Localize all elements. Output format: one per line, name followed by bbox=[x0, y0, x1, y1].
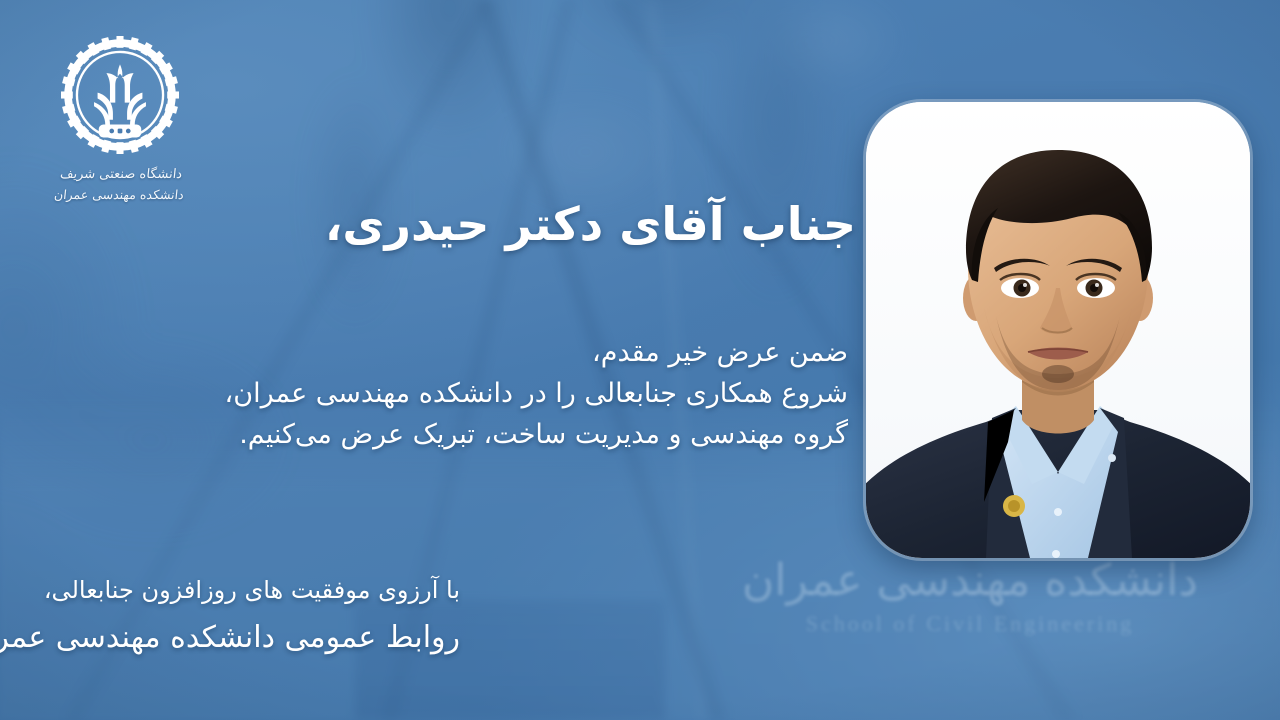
sharif-university-logo-icon bbox=[61, 36, 179, 154]
signature-block: با آرزوی موفقیت های روزافزون جنابعالی، ر… bbox=[0, 572, 460, 662]
message-body: ضمن عرض خیر مقدم، شروع همکاری جنابعالی ر… bbox=[225, 332, 848, 455]
signature-author: روابط عمومی دانشکده مهندسی عمران bbox=[0, 614, 460, 662]
page-title: جناب آقای دکتر حیدری، bbox=[325, 196, 856, 254]
logo-caption-school: دانشکده مهندسی عمران bbox=[42, 185, 196, 206]
greeting-card: دانشکده مهندسی عمران School of Civil Eng… bbox=[0, 0, 1280, 720]
message-line-1: ضمن عرض خیر مقدم، bbox=[225, 332, 848, 373]
logo-caption-university: دانشگاه صنعتی شریف bbox=[44, 164, 198, 185]
logo-caption: دانشگاه صنعتی شریف دانشکده مهندسی عمران bbox=[42, 164, 198, 206]
portrait-photo-frame bbox=[866, 102, 1250, 558]
university-logo-block: دانشگاه صنعتی شریف دانشکده مهندسی عمران bbox=[44, 36, 196, 206]
message-line-2: شروع همکاری جنابعالی را در دانشکده مهندس… bbox=[225, 373, 848, 414]
portrait-photo bbox=[866, 102, 1250, 558]
signature-wish: با آرزوی موفقیت های روزافزون جنابعالی، bbox=[0, 572, 460, 608]
message-line-3: گروه مهندسی و مدیریت ساخت، تبریک عرض می‌… bbox=[225, 414, 848, 455]
